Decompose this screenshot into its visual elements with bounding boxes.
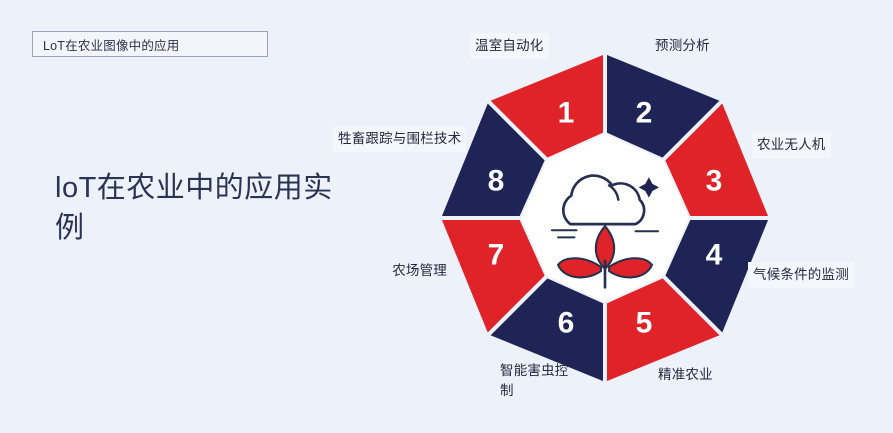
wheel-number-8: 8 <box>488 165 505 198</box>
breadcrumb-label: LoT在农业图像中的应用 <box>43 35 179 54</box>
octagon-wheel-diagram: 1 2 3 4 5 6 7 8 <box>415 50 795 385</box>
wheel-label-7: 农场管理 <box>370 258 452 284</box>
wheel-number-3: 3 <box>706 165 723 198</box>
wheel-number-4: 4 <box>706 239 723 272</box>
wheel-label-3: 农业无人机 <box>752 132 831 158</box>
wheel-number-6: 6 <box>558 307 575 340</box>
wheel-label-1: 温室自动化 <box>470 33 549 59</box>
wheel-number-5: 5 <box>636 307 653 340</box>
wheel-label-8: 牲畜跟踪与围栏技术 <box>333 126 466 152</box>
wheel-label-5: 精准农业 <box>653 362 718 388</box>
breadcrumb[interactable]: LoT在农业图像中的应用 <box>32 31 268 57</box>
wheel-label-2: 预测分析 <box>650 33 715 59</box>
wheel-label-4: 气候条件的监测 <box>748 262 854 288</box>
page-title: loT在农业中的应用实例 <box>55 168 355 248</box>
wheel-number-1: 1 <box>558 97 575 130</box>
wheel-number-2: 2 <box>636 97 653 130</box>
slide-canvas: LoT在农业图像中的应用 loT在农业中的应用实例 <box>0 0 893 433</box>
wheel-label-6: 智能害虫控制 <box>495 358 583 403</box>
wheel-number-7: 7 <box>488 239 505 272</box>
